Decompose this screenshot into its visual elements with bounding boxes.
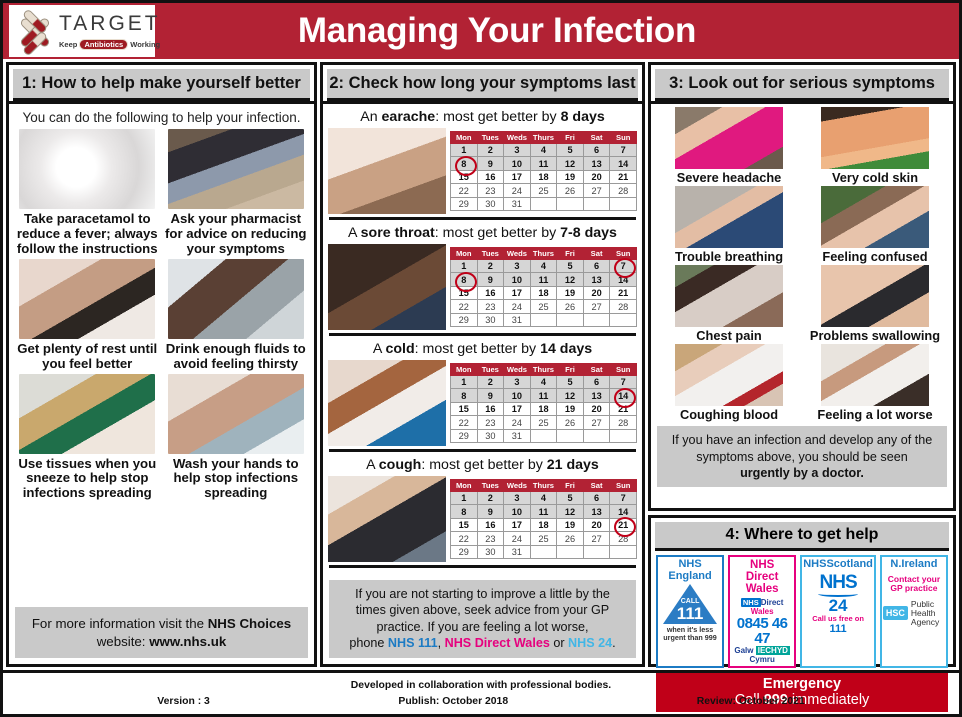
calendar-week-row: 15161718192021 (451, 286, 637, 300)
nhs-direct-wales-link[interactable]: NHS Direct Wales (445, 636, 550, 650)
calendar-day-cell-circled: 7 (610, 259, 637, 273)
wales-direct-word: Direct (761, 598, 784, 607)
calendar-weekday-header: Sun (610, 363, 637, 375)
calendar-day-cell: 24 (504, 416, 531, 430)
wales-logo-block: NHSDirect Wales 0845 46 47 Galw IECHYD C… (731, 598, 793, 664)
advice-tile: Get plenty of rest until you feel better (15, 259, 160, 372)
tagline-pill: Antibiotics (79, 39, 128, 50)
calendar-day-cell: 13 (583, 157, 610, 171)
right-column: 3: Look out for serious symptoms Severe … (648, 62, 956, 667)
symptom-row: MonTuesWedsThursFriSatSun123456789101112… (328, 128, 637, 214)
calendar-day-cell: 22 (451, 532, 478, 546)
advice-tile-caption: Use tissues when you sneeze to help stop… (15, 457, 160, 502)
calendar-day-cell: 8 (451, 389, 478, 403)
serious-symptom-caption: Problems swallowing (810, 329, 940, 343)
symptom-mid: : most get better by (435, 109, 560, 125)
calendar-day-cell: 18 (530, 518, 557, 532)
calendar-week-row: 1234567 (451, 375, 637, 389)
calendar-day-cell: 13 (583, 273, 610, 287)
calendar-day-cell: 20 (583, 402, 610, 416)
calendar-weekday-header: Sat (583, 479, 610, 491)
calendar-day-cell: 25 (530, 416, 557, 430)
calendar-day-cell: 28 (610, 300, 637, 314)
wales-iechyd: IECHYD (756, 646, 790, 655)
calendar-day-cell: 11 (530, 157, 557, 171)
help-cards-row: NHS England CALL 111 when it's less urge… (651, 551, 953, 670)
symptom-name: earache (382, 109, 436, 125)
symptom-mid: : most get better by (435, 225, 560, 241)
calendar-day-cell: 5 (557, 259, 584, 273)
calendar-empty-cell (610, 197, 637, 211)
serious-symptom-caption: Feeling confused (822, 250, 927, 264)
calendar-day-cell: 4 (530, 375, 557, 389)
serious-symptom-caption: Coughing blood (680, 408, 778, 422)
symptom-duration: 7-8 days (560, 225, 617, 241)
help-card-northern-ireland[interactable]: N.Ireland Contact your GP practice HSC P… (880, 555, 948, 668)
calendar-day-cell: 23 (477, 416, 504, 430)
calendar-day-cell: 7 (610, 143, 637, 157)
calendar-day-cell: 11 (530, 389, 557, 403)
calendar-day-cell: 16 (477, 518, 504, 532)
calendar-day-cell: 27 (583, 532, 610, 546)
calendar-day-cell: 22 (451, 416, 478, 430)
calendar-day-cell-circled: 8 (451, 157, 478, 171)
calendar-weekday-header: Sun (610, 479, 637, 491)
nhs-england-sub-2: urgent than 999 (663, 633, 717, 642)
tagline-post: Working (128, 40, 160, 49)
calendar-day-cell: 29 (451, 429, 478, 443)
calendar-day-cell: 11 (530, 273, 557, 287)
symptom-mid: : most get better by (415, 341, 540, 357)
calendar-weekday-header: Fri (557, 363, 584, 375)
serious-symptom-tile: Feeling a lot worse (805, 344, 945, 422)
calendar-weekday-header: Fri (557, 479, 584, 491)
calendar-empty-cell (610, 545, 637, 559)
calendar-day-cell: 10 (504, 505, 531, 519)
calendar-empty-cell (530, 545, 557, 559)
calendar-day-cell: 30 (477, 197, 504, 211)
calendar-day-cell: 26 (557, 184, 584, 198)
calendar-day-cell-circled: 14 (610, 389, 637, 403)
calendar-week-row: 293031 (451, 545, 637, 559)
calendar-day-cell: 6 (583, 491, 610, 505)
calendar-day-cell: 31 (504, 429, 531, 443)
target-tagline: Keep Antibiotics Working (59, 39, 161, 50)
calendar-day-cell: 31 (504, 313, 531, 327)
calendar-day-cell: 4 (530, 259, 557, 273)
calendar-day-cell: 2 (477, 491, 504, 505)
calendar-day-cell: 1 (451, 259, 478, 273)
calendar-week-row: 15161718192021 (451, 402, 637, 416)
section-3-heading: 3: Look out for serious symptoms (655, 69, 949, 101)
wales-title-1: NHS (750, 559, 774, 571)
serious-symptom-tile: Problems swallowing (805, 265, 945, 343)
nhs-england-title: NHS England (659, 559, 721, 582)
symptom-duration: 14 days (540, 341, 592, 357)
calendar-week-row: 1234567 (451, 491, 637, 505)
seek-advice-note: If you are not starting to improve a lit… (329, 580, 636, 658)
calendar-day-cell: 1 (451, 491, 478, 505)
advice-tile: Use tissues when you sneeze to help stop… (15, 374, 160, 502)
calendar-day-cell: 10 (504, 389, 531, 403)
scotland-free-note: Call us free on 111 (812, 615, 864, 635)
target-logo: TARGET Keep Antibiotics Working (9, 5, 155, 57)
scotland-24-number: 24 (829, 597, 848, 614)
calendar-day-cell: 20 (583, 286, 610, 300)
calendar-day-cell: 31 (504, 197, 531, 211)
woman-using-tissue-photo (19, 374, 155, 454)
calendar-day-cell: 19 (557, 402, 584, 416)
hsc-line-1: Public Health (911, 599, 936, 618)
serious-symptom-caption: Trouble breathing (675, 250, 783, 264)
calendar-day-cell: 29 (451, 313, 478, 327)
section-1-header-wrap: 1: How to help make yourself better (9, 65, 314, 104)
nhs-choices-mid: website: (97, 634, 149, 649)
calendar-day-cell: 9 (477, 389, 504, 403)
urgent-doctor-note: If you have an infection and develop any… (657, 426, 947, 487)
advice-line-1: If you are not starting to improve a lit… (355, 587, 610, 601)
calendar-day-cell: 12 (557, 157, 584, 171)
calendar-day-cell: 16 (477, 286, 504, 300)
symptom-lead: A (348, 225, 361, 241)
calendar-day-cell: 10 (504, 157, 531, 171)
symptom-mid: : most get better by (421, 457, 546, 473)
section-3-panel: 3: Look out for serious symptoms Severe … (648, 62, 956, 511)
calendar-day-cell: 17 (504, 402, 531, 416)
symptom-duration-block: A cold: most get better by 14 daysMonTue… (323, 336, 642, 446)
calendar-day-cell: 3 (504, 491, 531, 505)
ni-contact-note: Contact your GP practice (888, 575, 940, 595)
calendar-day-cell: 12 (557, 389, 584, 403)
calendar-empty-cell (583, 313, 610, 327)
man-coughing-photo (328, 476, 446, 562)
urgent-line-1: If you have an infection and develop any… (672, 433, 932, 447)
calendar-day-cell: 19 (557, 518, 584, 532)
advice-tile-caption: Get plenty of rest until you feel better (15, 342, 160, 372)
serious-symptom-caption: Very cold skin (832, 171, 918, 185)
calendar-weekday-header: Weds (504, 247, 531, 259)
calendar-empty-cell (530, 313, 557, 327)
advice-line-2: times given above, seek advice from your… (356, 603, 609, 617)
symptom-duration-list: An earache: most get better by 8 daysMon… (323, 104, 642, 575)
calendar-day-cell: 18 (530, 286, 557, 300)
calendar-day-cell: 15 (451, 518, 478, 532)
calendar-day-cell: 24 (504, 184, 531, 198)
calendar-weekday-header: Fri (557, 131, 584, 143)
woman-blowing-nose-photo (328, 360, 446, 446)
man-holding-throat-photo (328, 244, 446, 330)
calendar-weekday-header: Thurs (530, 479, 557, 491)
calendar-day-cell: 1 (451, 143, 478, 157)
calendar-day-cell: 28 (610, 416, 637, 430)
calendar-day-cell: 13 (583, 389, 610, 403)
calendar-weekday-header: Mon (451, 247, 478, 259)
calendar-weekday-header: Tues (477, 247, 504, 259)
calendar-weekday-header: Weds (504, 131, 531, 143)
calendar-weekday-header: Weds (504, 363, 531, 375)
person-holding-throat-photo (821, 265, 929, 327)
section-2-panel: 2: Check how long your symptoms last An … (320, 62, 645, 667)
urgent-line-2: symptoms above, you should be seen (696, 450, 907, 464)
nhs-choices-pre: For more information visit the (32, 616, 208, 631)
advice-tile-caption: Wash your hands to help stop infections … (164, 457, 309, 502)
poster-root: TARGET Keep Antibiotics Working Managing… (0, 0, 962, 717)
calendar-day-cell: 16 (477, 402, 504, 416)
calendar-empty-cell (530, 429, 557, 443)
nhs-choices-url[interactable]: www.nhs.uk (149, 634, 226, 649)
calendar-day-cell: 23 (477, 184, 504, 198)
man-with-headache-photo (675, 107, 783, 169)
calendar-week-row: 293031 (451, 197, 637, 211)
serious-symptom-tile: Trouble breathing (659, 186, 799, 264)
calendar-day-cell: 6 (583, 143, 610, 157)
calendar-day-cell: 30 (477, 545, 504, 559)
calendar-day-cell: 8 (451, 505, 478, 519)
advice-tile-caption: Ask your pharmacist for advice on reduci… (164, 212, 309, 257)
footer-publish: Publish: October 2018 (398, 696, 508, 707)
calendar-day-cell: 26 (557, 416, 584, 430)
ni-contact-1: Contact your (888, 574, 940, 584)
calendar-day-cell: 27 (583, 184, 610, 198)
calendar-day-cell: 17 (504, 170, 531, 184)
hsc-text: Public HealthAgency (911, 600, 945, 627)
calendar-day-cell: 9 (477, 157, 504, 171)
nhs-choices-note: For more information visit the NHS Choic… (15, 607, 308, 658)
advice-tile: Wash your hands to help stop infections … (164, 374, 309, 502)
woman-drinking-water-photo (168, 259, 304, 339)
serious-symptom-caption: Severe headache (677, 171, 782, 185)
calendar-day-cell: 9 (477, 505, 504, 519)
wales-welsh-line: Galw IECHYD Cymru (731, 646, 793, 664)
calendar-day-cell: 27 (583, 416, 610, 430)
footer-version: Version : 3 (157, 696, 210, 707)
calendar-day-cell: 21 (610, 286, 637, 300)
recovery-calendar: MonTuesWedsThursFriSatSun123456789101112… (450, 131, 637, 212)
symptom-duration-title: A cold: most get better by 14 days (328, 337, 637, 360)
section-3-header-wrap: 3: Look out for serious symptoms (651, 65, 953, 104)
calendar-weekday-header: Fri (557, 247, 584, 259)
symptom-row: MonTuesWedsThursFriSatSun123456789101112… (328, 244, 637, 330)
calendar-day-cell: 23 (477, 300, 504, 314)
footer-meta-row: Version : 3 Publish: October 2018 Review… (3, 696, 959, 707)
calendar-day-cell: 29 (451, 197, 478, 211)
calendar-week-row: 1234567 (451, 143, 637, 157)
calendar-day-cell: 30 (477, 429, 504, 443)
coughing-blood-tissue-photo (675, 344, 783, 406)
serious-symptom-tile: Severe headache (659, 107, 799, 185)
calendar-weekday-header: Tues (477, 363, 504, 375)
calendar-week-row: 293031 (451, 313, 637, 327)
calendar-day-cell: 5 (557, 491, 584, 505)
cold-arm-skin-photo (821, 107, 929, 169)
help-card-nhs-scotland[interactable]: NHSScotland NHS 24 Call us free on 111 (800, 555, 876, 668)
calendar-day-cell: 19 (557, 286, 584, 300)
calendar-day-cell: 31 (504, 545, 531, 559)
help-card-nhs-direct-wales[interactable]: NHS Direct Wales NHSDirect Wales 0845 46… (728, 555, 796, 668)
advice-end: . (612, 636, 616, 650)
calendar-day-cell: 25 (530, 184, 557, 198)
calendar-day-cell: 24 (504, 300, 531, 314)
hsc-line-2: Agency (911, 617, 939, 627)
calendar-day-cell: 30 (477, 313, 504, 327)
man-resting-in-bed-photo (19, 259, 155, 339)
nhs-111-number: 111 (663, 604, 717, 624)
symptom-lead: An (360, 109, 381, 125)
calendar-empty-cell (610, 429, 637, 443)
nhs-24-link[interactable]: NHS 24 (568, 636, 612, 650)
serious-symptom-grid: Severe headacheVery cold skinTrouble bre… (651, 104, 953, 422)
calendar-weekday-header: Sat (583, 247, 610, 259)
calendar-day-cell: 10 (504, 273, 531, 287)
page-title: Managing Your Infection (155, 11, 959, 51)
serious-symptom-caption: Feeling a lot worse (817, 408, 932, 422)
symptom-row: MonTuesWedsThursFriSatSun123456789101112… (328, 476, 637, 562)
calendar-weekday-header: Thurs (530, 247, 557, 259)
advice-phone-pre: phone (349, 636, 388, 650)
calendar-day-cell: 7 (610, 375, 637, 389)
paracetamol-tablets-photo (19, 129, 155, 209)
calendar-day-cell: 2 (477, 143, 504, 157)
serious-symptom-tile: Very cold skin (805, 107, 945, 185)
symptom-duration-title: A sore throat: most get better by 7-8 da… (328, 221, 637, 244)
calendar-weekday-header: Thurs (530, 131, 557, 143)
poster-footer: Developed in collaboration with professi… (3, 670, 959, 714)
pharmacist-counter-photo (168, 129, 304, 209)
wales-phone-number: 0845 46 47 (731, 616, 793, 646)
wales-title-2: Direct Wales (746, 571, 779, 595)
calendar-week-row: 15161718192021 (451, 518, 637, 532)
calendar-week-row: 22232425262728 (451, 184, 637, 198)
calendar-weekday-header: Tues (477, 479, 504, 491)
washing-hands-photo (168, 374, 304, 454)
scotland-free-1: Call us free on (812, 614, 864, 623)
target-wordmark: TARGET (59, 13, 161, 34)
calendar-week-row: 22232425262728 (451, 300, 637, 314)
calendar-empty-cell (557, 313, 584, 327)
nhs-england-sub: when it's less urgent than 999 (663, 626, 717, 643)
calendar-day-cell: 9 (477, 273, 504, 287)
scotland-free-number: 111 (829, 623, 846, 635)
section-1-tile-grid: Take paracetamol to reduce a fever; alwa… (9, 127, 314, 603)
ni-title: N.Ireland (890, 559, 937, 571)
woman-holding-ear-photo (328, 128, 446, 214)
calendar-day-cell: 7 (610, 491, 637, 505)
advice-sep-2: or (550, 636, 568, 650)
calendar-day-cell: 21 (610, 170, 637, 184)
symptom-name: cough (379, 457, 422, 473)
developed-note: Developed in collaboration with professi… (3, 680, 959, 691)
symptom-divider (329, 565, 636, 568)
section-1-intro: You can do the following to help your in… (9, 104, 314, 127)
symptom-name: sore throat (361, 225, 435, 241)
nhs-111-link[interactable]: NHS 111 (388, 636, 438, 650)
calendar-day-cell: 22 (451, 300, 478, 314)
wales-title: NHS Direct Wales (731, 559, 793, 595)
calendar-day-cell: 2 (477, 259, 504, 273)
calendar-day-cell: 28 (610, 184, 637, 198)
calendar-day-cell: 4 (530, 143, 557, 157)
hsc-logo: HSC Public HealthAgency (883, 600, 945, 627)
calendar-day-cell: 25 (530, 300, 557, 314)
calendar-day-cell: 27 (583, 300, 610, 314)
calendar-day-cell: 3 (504, 259, 531, 273)
recovery-calendar: MonTuesWedsThursFriSatSun123456789101112… (450, 247, 637, 328)
calendar-day-cell: 12 (557, 505, 584, 519)
poster-header: TARGET Keep Antibiotics Working Managing… (3, 3, 959, 59)
calendar-week-row: 22232425262728 (451, 416, 637, 430)
calendar-day-cell: 6 (583, 375, 610, 389)
nhs-choices-bold: NHS Choices (208, 616, 292, 631)
calendar-day-cell: 22 (451, 184, 478, 198)
calendar-day-cell: 19 (557, 170, 584, 184)
calendar-day-cell: 24 (504, 532, 531, 546)
calendar-empty-cell (583, 429, 610, 443)
calendar-week-row: 22232425262728 (451, 532, 637, 546)
section-1-panel: 1: How to help make yourself better You … (6, 62, 317, 667)
recovery-calendar: MonTuesWedsThursFriSatSun123456789101112… (450, 363, 637, 444)
section-4-panel: 4: Where to get help NHS England CALL 11… (648, 515, 956, 667)
scotland-title: NHSScotland (803, 559, 873, 571)
calendar-week-row: 891011121314 (451, 389, 637, 403)
calendar-weekday-header: Sat (583, 363, 610, 375)
calendar-empty-cell (557, 429, 584, 443)
advice-tile: Ask your pharmacist for advice on reduci… (164, 129, 309, 257)
calendar-weekday-header: Sat (583, 131, 610, 143)
calendar-weekday-header: Tues (477, 131, 504, 143)
calendar-day-cell: 3 (504, 143, 531, 157)
calendar-day-cell: 15 (451, 402, 478, 416)
calendar-week-row: 1234567 (451, 259, 637, 273)
wales-nhs-badge: NHS (741, 598, 761, 607)
serious-symptom-caption: Chest pain (696, 329, 761, 343)
calendar-day-cell-circled: 8 (451, 273, 478, 287)
wales-cymru: Cymru (749, 655, 774, 664)
calendar-day-cell: 20 (583, 518, 610, 532)
calendar-day-cell: 4 (530, 491, 557, 505)
help-card-nhs-england[interactable]: NHS England CALL 111 when it's less urge… (656, 555, 724, 668)
section-2-header-wrap: 2: Check how long your symptoms last (323, 65, 642, 104)
confused-woman-photo (821, 186, 929, 248)
calendar-day-cell: 1 (451, 375, 478, 389)
calendar-day-cell: 29 (451, 545, 478, 559)
woman-breathless-photo (675, 186, 783, 248)
calendar-weekday-header: Thurs (530, 363, 557, 375)
calendar-empty-cell (583, 545, 610, 559)
calendar-day-cell: 12 (557, 273, 584, 287)
hsc-badge-icon: HSC (883, 606, 908, 620)
calendar-day-cell-circled: 21 (610, 518, 637, 532)
section-2-heading: 2: Check how long your symptoms last (327, 69, 638, 101)
tagline-pre: Keep (59, 40, 79, 49)
symptom-name: cold (386, 341, 415, 357)
calendar-weekday-header: Mon (451, 479, 478, 491)
calendar-week-row: 15161718192021 (451, 170, 637, 184)
recovery-calendar: MonTuesWedsThursFriSatSun123456789101112… (450, 479, 637, 560)
calendar-day-cell: 14 (610, 157, 637, 171)
symptom-duration-block: An earache: most get better by 8 daysMon… (323, 104, 642, 214)
man-clutching-chest-photo (675, 265, 783, 327)
target-logo-text: TARGET Keep Antibiotics Working (57, 13, 161, 50)
calendar-day-cell: 6 (583, 259, 610, 273)
calendar-empty-cell (530, 197, 557, 211)
serious-symptom-tile: Chest pain (659, 265, 799, 343)
symptom-row: MonTuesWedsThursFriSatSun123456789101112… (328, 360, 637, 446)
symptom-lead: A (373, 341, 386, 357)
calendar-week-row: 891011121314 (451, 505, 637, 519)
section-1-heading: 1: How to help make yourself better (13, 69, 310, 101)
advice-line-3: practice. If you are feeling a lot worse… (376, 620, 588, 634)
symptom-lead: A (366, 457, 379, 473)
